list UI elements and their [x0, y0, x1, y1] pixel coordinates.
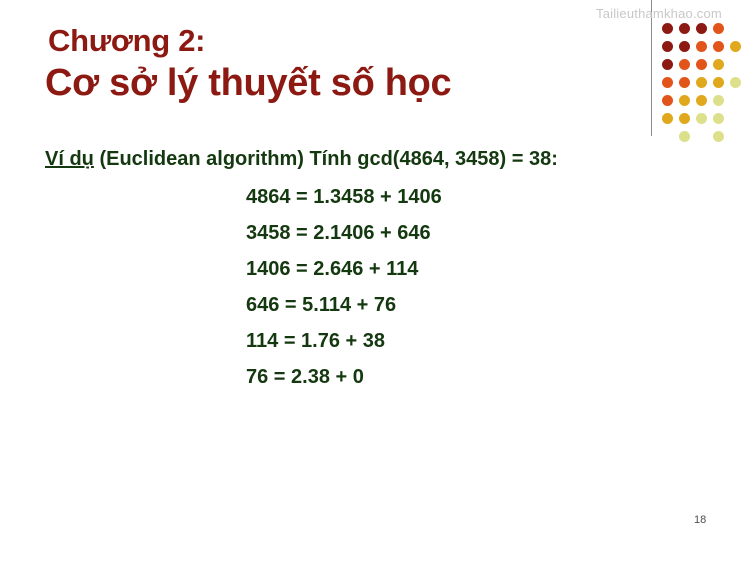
- decorative-dot: [713, 59, 724, 70]
- decorative-dot: [696, 113, 707, 124]
- decorative-dot: [730, 41, 741, 52]
- decorative-dot: [713, 113, 724, 124]
- decorative-dot: [662, 113, 673, 124]
- equation-line: 3458 = 2.1406 + 646: [246, 222, 431, 245]
- equation-line: 1406 = 2.646 + 114: [246, 258, 418, 281]
- example-intro-line: Ví dụ (Euclidean algorithm) Tính gcd(486…: [45, 148, 558, 171]
- slide-canvas: Tailieuthamkhao.com Chương 2: Cơ sở lý t…: [0, 0, 750, 563]
- decorative-dot: [662, 59, 673, 70]
- decorative-dot: [662, 95, 673, 106]
- decorative-dot: [696, 95, 707, 106]
- decorative-dot: [662, 41, 673, 52]
- decorative-dot: [713, 23, 724, 34]
- decorative-dot: [679, 95, 690, 106]
- watermark-text: Tailieuthamkhao.com: [596, 6, 722, 21]
- decorative-dot: [679, 77, 690, 88]
- decorative-dot: [713, 131, 724, 142]
- decorative-dot: [662, 23, 673, 34]
- decorative-dot-grid: [660, 20, 750, 136]
- equation-line: 646 = 5.114 + 76: [246, 294, 396, 317]
- decorative-dot: [713, 95, 724, 106]
- decorative-dot: [696, 59, 707, 70]
- decorative-dot: [679, 131, 690, 142]
- slide-body: Ví dụ (Euclidean algorithm) Tính gcd(486…: [0, 0, 750, 563]
- equation-line: 76 = 2.38 + 0: [246, 366, 364, 389]
- decorative-dot: [662, 77, 673, 88]
- equation-line: 4864 = 1.3458 + 1406: [246, 186, 442, 209]
- decorative-dot: [696, 41, 707, 52]
- decorative-dot: [713, 41, 724, 52]
- decorative-dot: [679, 41, 690, 52]
- example-intro-rest: (Euclidean algorithm) Tính gcd(4864, 345…: [94, 148, 558, 170]
- decorative-dot: [679, 23, 690, 34]
- decorative-dot: [679, 113, 690, 124]
- decorative-dot: [713, 77, 724, 88]
- equation-line: 114 = 1.76 + 38: [246, 330, 385, 353]
- decorative-dot: [696, 23, 707, 34]
- example-label: Ví dụ: [45, 148, 94, 170]
- decorative-dot: [730, 77, 741, 88]
- decorative-dot: [696, 77, 707, 88]
- decorative-dot: [679, 59, 690, 70]
- page-number: 18: [694, 514, 706, 526]
